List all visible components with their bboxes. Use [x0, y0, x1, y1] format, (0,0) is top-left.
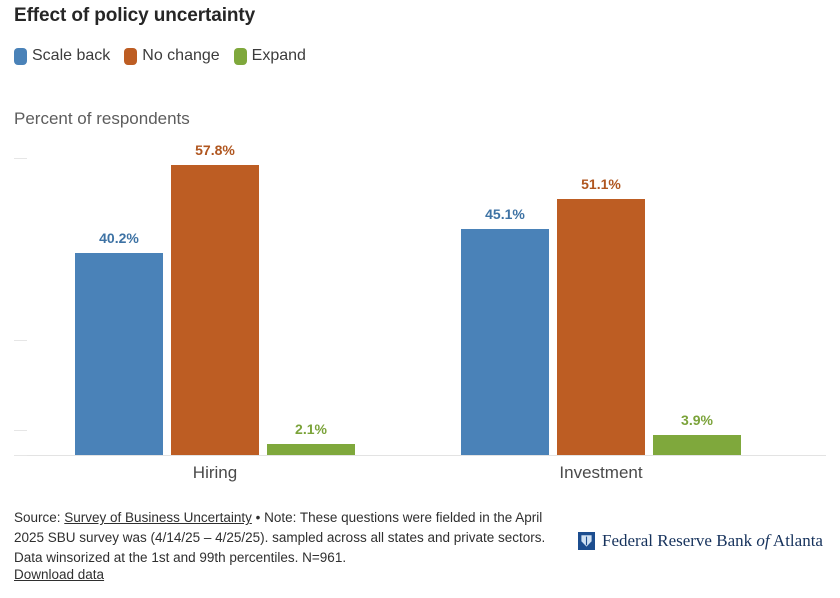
legend-label-scale-back: Scale back — [32, 47, 110, 65]
chart-legend: Scale back No change Expand — [14, 47, 320, 65]
brand-pre: Federal Reserve Bank — [602, 531, 756, 550]
bar-value-label: 2.1% — [267, 421, 355, 437]
legend-label-no-change: No change — [142, 47, 219, 65]
y-axis-tick — [14, 340, 27, 341]
bar[interactable] — [267, 444, 355, 455]
download-data-link[interactable]: Download data — [14, 567, 104, 582]
federal-reserve-logo-icon — [578, 532, 595, 550]
x-axis-category-label: Investment — [461, 463, 741, 483]
legend-item-no-change[interactable]: No change — [124, 47, 219, 65]
source-link[interactable]: Survey of Business Uncertainty — [64, 510, 252, 525]
legend-swatch-no-change — [124, 48, 137, 65]
brand-post: Atlanta — [770, 531, 823, 550]
x-axis-baseline — [14, 455, 826, 456]
legend-swatch-scale-back — [14, 48, 27, 65]
brand-of: of — [756, 531, 769, 550]
bar-value-label: 3.9% — [653, 412, 741, 428]
bar[interactable] — [557, 199, 645, 455]
page-title: Effect of policy uncertainty — [14, 5, 255, 27]
legend-item-scale-back[interactable]: Scale back — [14, 47, 110, 65]
bar[interactable] — [653, 435, 741, 455]
bar-value-label: 45.1% — [461, 206, 549, 222]
plot-area: 40.2%57.8%2.1%45.1%51.1%3.9% — [14, 140, 826, 456]
y-axis-tick — [14, 430, 27, 431]
y-axis-title: Percent of respondents — [14, 109, 190, 129]
legend-item-expand[interactable]: Expand — [234, 47, 306, 65]
y-axis-tick — [14, 455, 27, 456]
bar-value-label: 40.2% — [75, 230, 163, 246]
legend-label-expand: Expand — [252, 47, 306, 65]
brand-text: Federal Reserve Bank of Atlanta — [602, 531, 823, 551]
footnote-source-prefix: Source: — [14, 510, 64, 525]
bar[interactable] — [75, 253, 163, 455]
bar-value-label: 57.8% — [171, 142, 259, 158]
y-axis-tick — [14, 158, 27, 159]
bar[interactable] — [171, 165, 259, 455]
x-axis-category-label: Hiring — [75, 463, 355, 483]
brand-lockup: Federal Reserve Bank of Atlanta — [578, 531, 823, 551]
chart-page: Effect of policy uncertainty Scale back … — [0, 0, 840, 598]
footnote: Source: Survey of Business Uncertainty •… — [14, 508, 574, 568]
legend-swatch-expand — [234, 48, 247, 65]
bar-value-label: 51.1% — [557, 176, 645, 192]
bar[interactable] — [461, 229, 549, 455]
